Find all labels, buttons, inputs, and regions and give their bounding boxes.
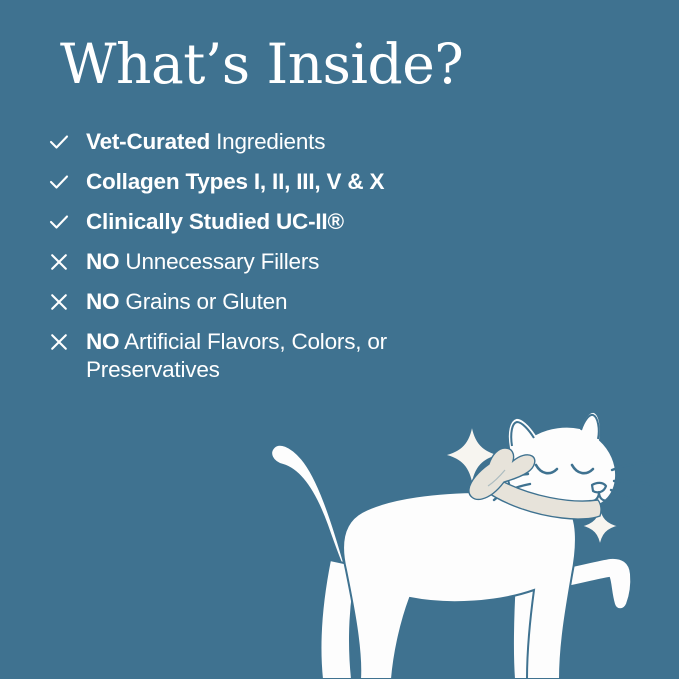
list-item-lead: Vet-Curated xyxy=(86,129,210,154)
list-item: NO Artificial Flavors, Colors, or Preser… xyxy=(47,328,467,384)
list-item-rest: Grains or Gluten xyxy=(119,289,287,314)
cat-eye-left xyxy=(536,465,557,473)
sparkle-icon xyxy=(581,505,619,547)
cat-whisker-right-2 xyxy=(614,481,661,487)
list-item-text: NO Unnecessary Fillers xyxy=(86,248,319,276)
cat-body xyxy=(343,492,576,679)
list-item-lead: Clinically Studied UC-II® xyxy=(86,209,344,234)
list-item-lead: NO xyxy=(86,329,119,354)
list-item: NO Grains or Gluten xyxy=(47,288,517,316)
check-icon xyxy=(47,208,71,236)
check-icon xyxy=(47,168,71,196)
list-item: Collagen Types I, II, III, V & X xyxy=(47,168,517,196)
cat-whisker-right-1 xyxy=(612,462,660,470)
cat-head xyxy=(507,412,616,511)
feature-list: Vet-Curated Ingredients Collagen Types I… xyxy=(47,128,517,396)
cat-whisker-right-3 xyxy=(611,490,648,510)
cat-nose xyxy=(592,483,606,493)
cat-bow xyxy=(469,448,535,499)
list-item-lead: Collagen Types I, II, III, V & X xyxy=(86,169,384,194)
cat-whisker-left-2 xyxy=(494,484,530,500)
list-item-rest: Unnecessary Fillers xyxy=(119,249,319,274)
sparkle-icon xyxy=(444,424,500,486)
list-item: Clinically Studied UC-II® xyxy=(47,208,517,236)
list-item-lead: NO xyxy=(86,289,119,314)
list-item-text: Collagen Types I, II, III, V & X xyxy=(86,168,384,196)
list-item-text: Clinically Studied UC-II® xyxy=(86,208,344,236)
cat-tail xyxy=(271,445,345,572)
list-item-text: NO Grains or Gluten xyxy=(86,288,287,316)
list-item-rest: Artificial Flavors, Colors, or Preservat… xyxy=(86,329,387,382)
cat-bow-crease xyxy=(488,470,505,486)
cat-mouth xyxy=(590,492,608,501)
cross-icon xyxy=(47,288,71,316)
cat-front-leg-back xyxy=(513,580,548,679)
cat-hind-leg-back xyxy=(320,560,358,679)
cross-icon xyxy=(47,328,71,356)
cat-chest xyxy=(500,460,575,505)
list-item-text: Vet-Curated Ingredients xyxy=(86,128,325,156)
cat-whisker-left-1 xyxy=(494,474,528,484)
promo-card: What’s Inside? Vet-Curated Ingredients C… xyxy=(0,0,679,679)
list-item: NO Unnecessary Fillers xyxy=(47,248,517,276)
check-icon xyxy=(47,128,71,156)
list-item-rest: Ingredients xyxy=(210,129,325,154)
list-item-lead: NO xyxy=(86,249,119,274)
list-item: Vet-Curated Ingredients xyxy=(47,128,517,156)
cross-icon xyxy=(47,248,71,276)
cat-collar-ribbon xyxy=(484,480,601,519)
cat-raised-paw xyxy=(553,558,631,609)
list-item-text: NO Artificial Flavors, Colors, or Preser… xyxy=(86,328,456,384)
cat-ear-left xyxy=(511,422,534,446)
page-title: What’s Inside? xyxy=(60,36,463,94)
cat-ear-right xyxy=(581,415,599,439)
cat-eye-right xyxy=(572,465,593,473)
